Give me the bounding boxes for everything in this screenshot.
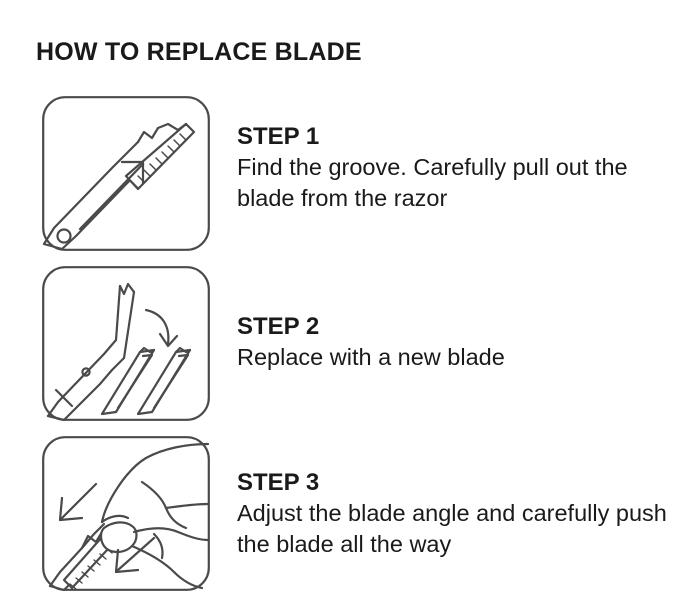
step-label-3: STEP 3: [237, 468, 677, 498]
step-label-2: STEP 2: [237, 312, 677, 342]
page-title: HOW TO REPLACE BLADE: [36, 38, 362, 67]
panel-border-icon: [43, 97, 209, 250]
step-illustration-panel-3: [42, 436, 210, 591]
step-description-2: Replace with a new blade: [237, 342, 677, 373]
step-illustration-panel-2: [42, 266, 210, 421]
step-description-1: Find the groove. Carefully pull out the …: [237, 152, 677, 214]
step-text-block-1: STEP 1 Find the groove. Carefully pull o…: [237, 122, 677, 214]
step-label-1: STEP 1: [237, 122, 677, 152]
step-description-3: Adjust the blade angle and carefully pus…: [237, 498, 677, 560]
step-illustration-panel-1: [42, 96, 210, 251]
step-text-block-2: STEP 2 Replace with a new blade: [237, 312, 677, 373]
step-text-block-3: STEP 3 Adjust the blade angle and carefu…: [237, 468, 677, 560]
